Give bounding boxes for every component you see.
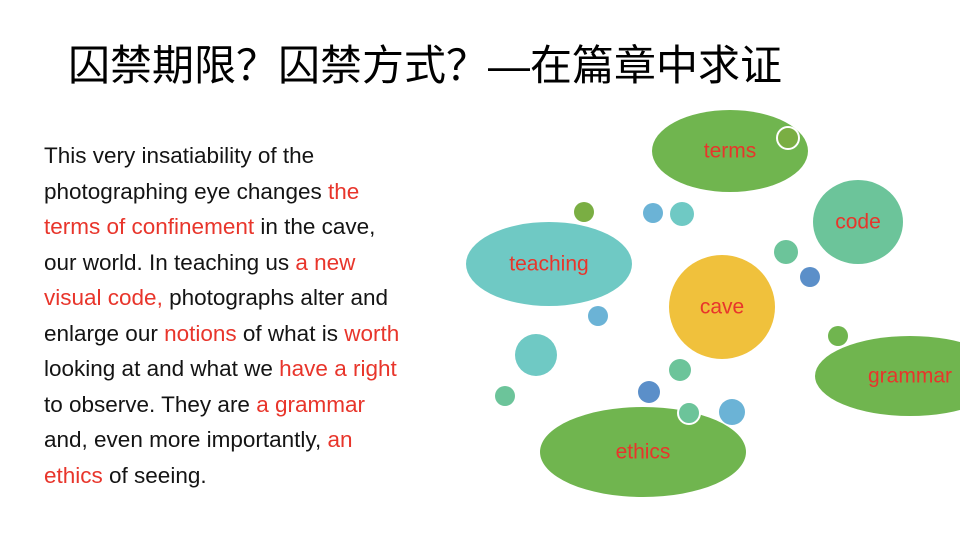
decorative-dot-ringed [678,402,700,424]
bubble-label-code: code [835,211,881,234]
highlighted-phrase: notions [164,321,237,346]
bubble-label-terms: terms [704,140,757,163]
decorative-dot [643,203,663,223]
decorative-dot [495,386,515,406]
decorative-dot [828,326,848,346]
decorative-dot [588,306,608,326]
highlighted-phrase: have a right [279,356,397,381]
decorative-dot [719,399,745,425]
decorative-dot [638,381,660,403]
bubble-diagram: termsteachingcodecavegrammarethics [440,95,960,540]
body-text-run: to observe. They are [44,392,256,417]
bubble-label-cave: cave [700,296,744,319]
decorative-dot [774,240,798,264]
decorative-dot [670,202,694,226]
body-text-run: and, even more importantly, [44,427,327,452]
decorative-dot [574,202,594,222]
body-paragraph: This very insatiability of the photograp… [44,138,412,493]
bubble-diagram-canvas: termsteachingcodecavegrammarethics [440,95,960,540]
decorative-dot [800,267,820,287]
body-text-run: This very insatiability of the photograp… [44,143,328,204]
bubble-label-teaching: teaching [509,253,588,276]
body-text-run: of seeing. [103,463,207,488]
page-title: 囚禁期限？囚禁方式？—在篇章中求证 [68,42,908,90]
decorative-dot [515,334,557,376]
bubble-label-ethics: ethics [616,441,671,464]
highlighted-phrase: a grammar [256,392,365,417]
decorative-dot [669,359,691,381]
body-text-run: looking at and what we [44,356,279,381]
decorative-dot-ringed [777,127,799,149]
body-text-run: of what is [237,321,345,346]
bubble-label-grammar: grammar [868,365,952,388]
highlighted-phrase: worth [344,321,399,346]
